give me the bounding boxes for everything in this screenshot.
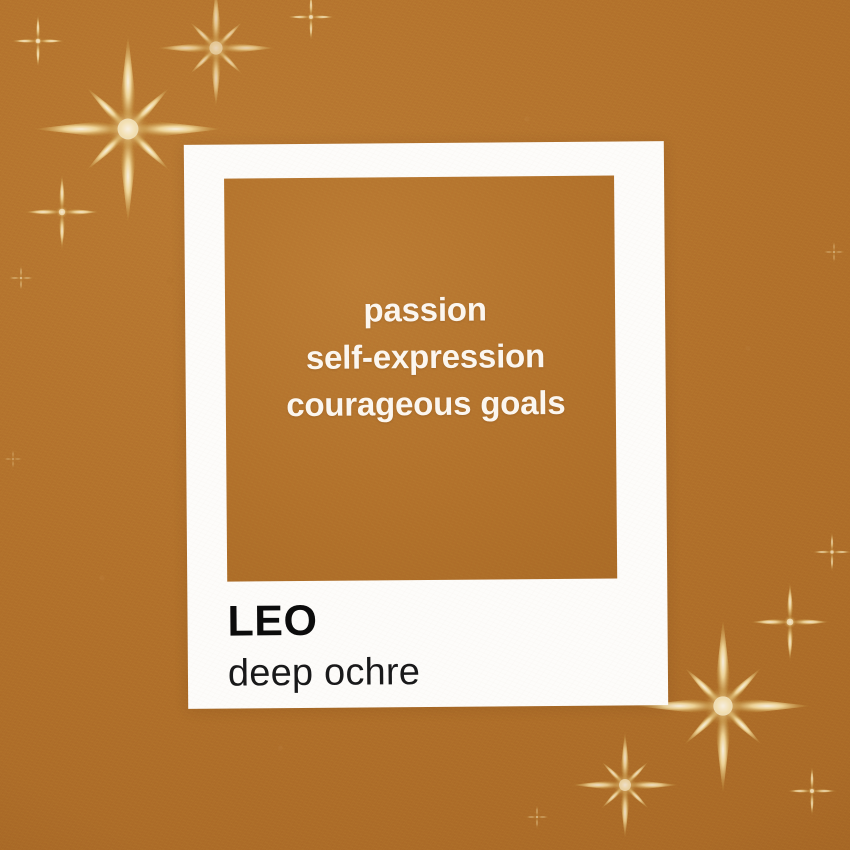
background-vignette: [0, 0, 850, 850]
color-card-canvas: passion self-expression courageous goals…: [0, 0, 850, 850]
